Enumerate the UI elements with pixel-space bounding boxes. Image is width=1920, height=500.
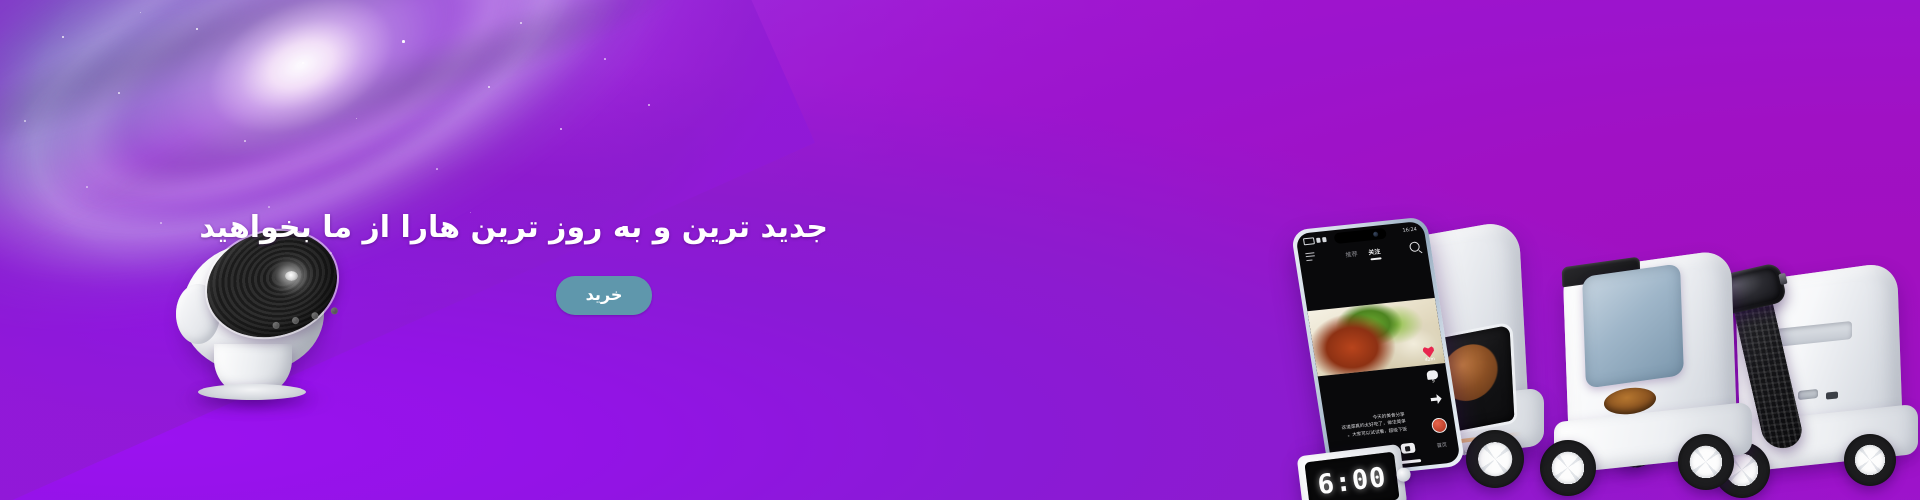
- clock-time: 6:00: [1316, 463, 1388, 498]
- galaxy-fade-mask: [0, 0, 815, 500]
- projector-base: [198, 384, 306, 400]
- tab-recommended[interactable]: 推荐: [1345, 248, 1358, 258]
- video-caption: 今天的美食分享 这道菜真的太好吃了，做法简单 大家可以试试看，超级下饭。: [1331, 411, 1408, 441]
- like-button[interactable]: 42m: [1422, 346, 1435, 363]
- tab-following[interactable]: 关注: [1368, 246, 1381, 256]
- promo-banner: CHARGE 16:24 . . . 关注: [0, 0, 1920, 500]
- brightness-button-icon[interactable]: [311, 311, 319, 319]
- usb-c-port-icon: [1826, 391, 1838, 399]
- record-button-icon[interactable]: [1400, 443, 1416, 454]
- star-field: [0, 0, 780, 330]
- watch-crown-icon: [1778, 273, 1787, 285]
- product-phone-holder-car-front[interactable]: CHARGE 16:24 . . . 关注: [1306, 214, 1574, 496]
- tab-home[interactable]: 首页: [1436, 441, 1447, 449]
- car-wheel: [1678, 434, 1734, 490]
- car-wheel: [1844, 434, 1896, 486]
- avatar[interactable]: [1431, 417, 1448, 433]
- share-button[interactable]: [1430, 394, 1443, 405]
- projector-lens-icon: [285, 271, 298, 281]
- comment-count: 9: [1432, 379, 1436, 384]
- timer-button-icon[interactable]: [330, 307, 338, 315]
- battery-icon: .: [1303, 237, 1315, 245]
- status-indicators: . . .: [1303, 236, 1327, 245]
- video-thumbnail: [1307, 298, 1445, 377]
- buy-button[interactable]: خرید: [556, 276, 652, 315]
- hamburger-menu-icon[interactable]: [1305, 252, 1315, 261]
- like-count: 42m: [1425, 357, 1436, 363]
- mode-button-icon[interactable]: [291, 316, 299, 324]
- galaxy-nebula-icon: [0, 0, 815, 500]
- status-time: 16:24: [1402, 226, 1417, 233]
- product-cluster: CHARGE 16:24 . . . 关注: [1280, 96, 1920, 500]
- product-galaxy-projector[interactable]: [158, 226, 344, 404]
- clock-display: 6:00: [1304, 452, 1399, 500]
- clock-knob-icon[interactable]: [1396, 467, 1412, 483]
- wifi-icon: .: [1316, 237, 1321, 242]
- car-wheel: [1466, 430, 1524, 488]
- car-phone-pad: [1582, 263, 1684, 388]
- signal-icon: .: [1322, 236, 1327, 241]
- share-icon: [1430, 394, 1443, 405]
- power-button-icon[interactable]: [272, 321, 280, 329]
- digital-alarm-clock[interactable]: 6:00: [1297, 444, 1408, 500]
- search-icon[interactable]: [1409, 241, 1421, 252]
- comment-button[interactable]: 9: [1426, 370, 1439, 385]
- cta-container: خرید: [556, 276, 652, 315]
- page-title: جدید ترین و به روز ترین هارا از ما بخواه…: [199, 210, 828, 245]
